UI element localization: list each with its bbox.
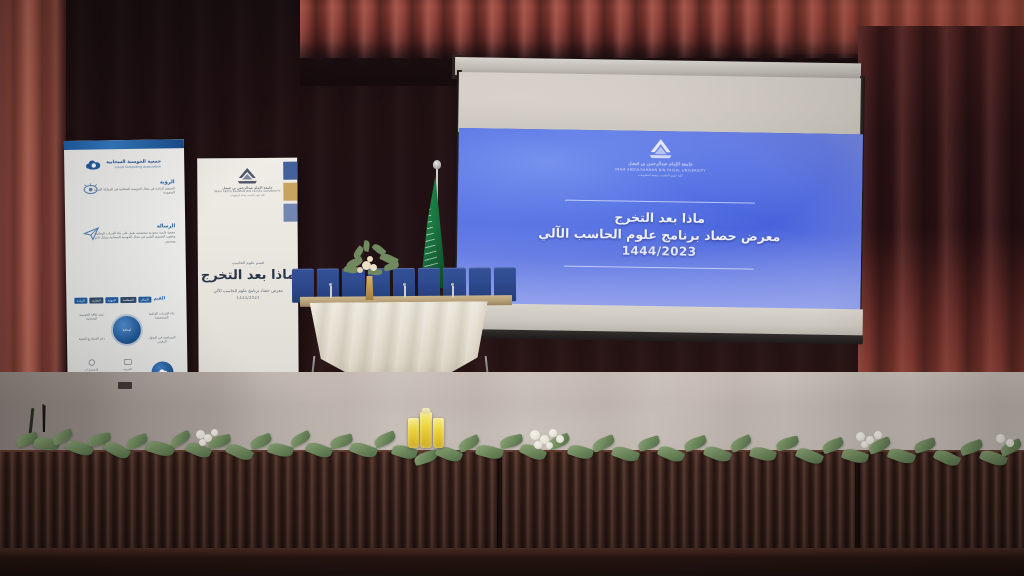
value-chip: الريادة (74, 297, 87, 303)
garland-leaf (887, 446, 916, 467)
garland-leaf (305, 440, 334, 461)
garland-bloom (861, 441, 868, 448)
vision-body: الجمعية الرائدة في مجال الحوسبة السحابية… (93, 186, 175, 196)
bouquet-bloom (367, 256, 373, 262)
value-chip: التعاون (89, 297, 103, 303)
garland-leaf (795, 445, 825, 467)
garland-leaf (749, 445, 777, 464)
banner2-logo-subline: كلية علوم الحاسب وتقنية المعلومات (230, 193, 265, 196)
consulting-icon (87, 358, 96, 366)
banner2-title: ماذا بعد التخرج (198, 268, 298, 284)
banner2-eyebrow: قسم علوم الحاسب (198, 260, 298, 266)
service-item: الاستشارات (75, 358, 107, 372)
yellow-candle-vase (433, 418, 444, 448)
flag-pole-finial (433, 160, 441, 169)
garland-bloom (546, 442, 553, 449)
garland-bloom (556, 435, 564, 443)
banner-top-accent-bar (64, 139, 184, 150)
bouquet-bloom (370, 264, 377, 271)
roll-up-banner-graduation: جامعة الإمام عبدالرحمن بن فيصل IMAM ABDU… (197, 158, 299, 404)
banner2-subtitle: معرض حصاد برنامج علوم الحاسب الآلي (198, 288, 298, 294)
banner-values-row: القيم الابتكار الشفافية المهنية التعاون … (74, 294, 178, 305)
garland-bloom (530, 430, 540, 440)
garland-leaf (933, 447, 962, 469)
banner-section-vision: الرؤية الجمعية الرائدة في مجال الحوسبة ا… (92, 179, 174, 196)
stage-bottom-rail (0, 548, 1024, 558)
banner-logo: جمعية الحوسبة السحابية Cloud Computing A… (84, 156, 161, 172)
microphone-head (451, 283, 454, 286)
goal-item: نشر ثقافة الحوسبة السحابية (75, 312, 109, 321)
projection-bottom-fade (456, 224, 861, 312)
service-item: التدريب (111, 358, 143, 372)
microphone-stand (330, 286, 332, 298)
garland-leaf (913, 437, 937, 454)
garland-leaf (703, 443, 733, 464)
banner-logo-text: جمعية الحوسبة السحابية Cloud Computing A… (106, 159, 161, 169)
auditorium-stage-photo: جامعة الإمام عبدالرحمن بن فيصل IMAM ABDU… (0, 0, 1024, 576)
values-label: القيم (153, 296, 165, 301)
mission-body: جمعية علمية سعودية متخصصة تعمل على بناء … (93, 230, 175, 245)
garland-bloom (856, 432, 865, 441)
garland-leaf (841, 446, 869, 465)
yellow-candle-vase (408, 418, 419, 448)
goal-item: بناء القدرات الوطنية المتخصصة (145, 311, 179, 320)
value-chip: الشفافية (120, 296, 136, 302)
goal-item: دعم المشاريع التقنية (75, 336, 109, 341)
greenery-garland (0, 408, 1024, 498)
microphone-stand (404, 286, 406, 298)
goals-circle: أهدافنا (113, 316, 141, 344)
garland-leaf (611, 444, 640, 465)
flower-centerpiece (344, 243, 400, 283)
goal-item: المساهمة في التحول الرقمي (145, 335, 179, 344)
service-label: التدريب (123, 367, 132, 371)
yellow-candle-vase (420, 412, 432, 448)
bouquet-leaf (363, 240, 371, 252)
garland-bloom (534, 441, 542, 449)
microphone-stand (452, 286, 454, 298)
bouquet-bloom (357, 267, 363, 273)
garland-leaf (567, 442, 594, 461)
garland-leaf (657, 443, 686, 465)
goals-circle-label: أهدافنا (123, 328, 132, 332)
garland-stem (29, 408, 35, 434)
bouquet-leaf (383, 262, 399, 272)
microphone-head (403, 283, 406, 286)
university-emblem-icon (236, 166, 258, 184)
training-icon (123, 358, 132, 366)
banner2-logo: جامعة الإمام عبدالرحمن بن فيصل IMAM ABDU… (197, 166, 297, 197)
floor-equipment-box (118, 382, 132, 389)
projection-area (456, 128, 863, 312)
garland-leaf (775, 435, 800, 451)
garland-leaf (519, 441, 548, 463)
garland-bloom (1006, 439, 1014, 447)
swatch-lightblue (283, 204, 297, 222)
garland-bloom (211, 429, 218, 436)
garland-bloom (199, 439, 206, 446)
stage-plinth (0, 558, 1024, 576)
garland-bloom (874, 431, 882, 439)
value-chip: المهنية (105, 297, 118, 303)
cloud-computing-logo-icon (84, 157, 103, 172)
garland-bloom (996, 434, 1005, 443)
banner-logo-english: Cloud Computing Association (115, 164, 162, 169)
microphone-head (329, 283, 332, 286)
value-chip: الابتكار (138, 296, 151, 302)
candle-vase-neck (422, 408, 430, 414)
banner-section-mission: الرسالة جمعية علمية سعودية متخصصة تعمل ع… (93, 223, 175, 245)
banner2-year: 1444/2023 (198, 295, 298, 301)
